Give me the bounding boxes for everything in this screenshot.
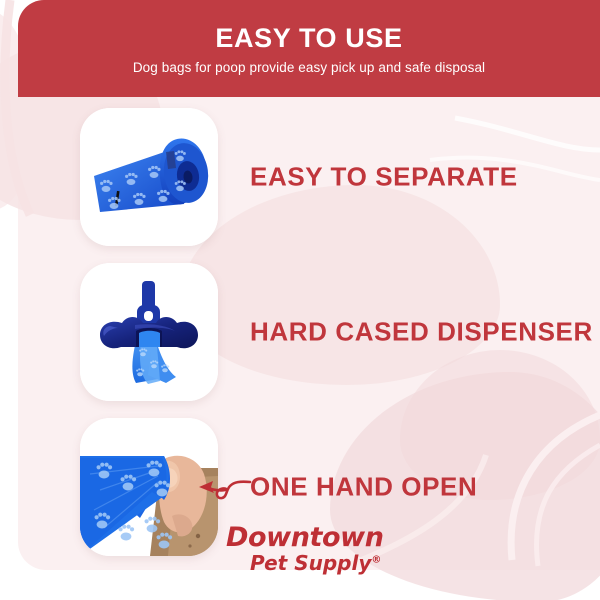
feature-caption: EASY TO SEPARATE (250, 162, 518, 193)
bag-roll-icon (80, 108, 218, 246)
curly-arrow-icon (196, 468, 252, 506)
brand-logo-line1: Downtown (226, 524, 456, 551)
feature-row: EASY TO SEPARATE (0, 108, 600, 246)
feature-caption: ONE HAND OPEN (250, 472, 477, 503)
bone-dispenser-icon (80, 263, 218, 401)
feature-caption: HARD CASED DISPENSER (250, 317, 593, 348)
page-subtitle: Dog bags for poop provide easy pick up a… (133, 60, 485, 75)
registered-mark: ® (371, 554, 381, 565)
feature-image-tile (80, 263, 218, 401)
page-title: EASY TO USE (215, 23, 402, 54)
feature-row: HARD CASED DISPENSER (0, 263, 600, 401)
brand-logo: Downtown Pet Supply® (226, 524, 456, 573)
header-banner: EASY TO USE Dog bags for poop provide ea… (18, 0, 600, 97)
product-feature-graphic: EASY TO USE Dog bags for poop provide ea… (0, 0, 600, 600)
feature-image-tile (80, 108, 218, 246)
brand-logo-line2-text: Pet Supply (250, 551, 371, 575)
brand-logo-line2: Pet Supply® (250, 553, 456, 573)
